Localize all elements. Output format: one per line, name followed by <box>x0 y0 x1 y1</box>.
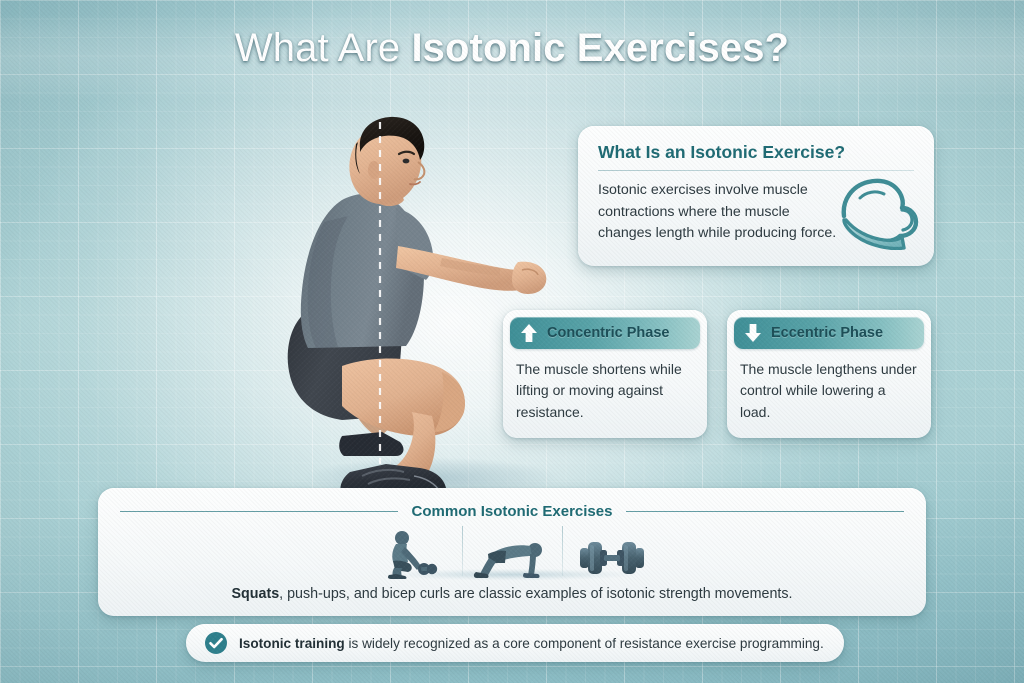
arrow-up-icon <box>520 323 538 343</box>
exercise-icon-cell-pushup <box>462 524 562 580</box>
squat-figure-svg <box>246 104 606 502</box>
exercises-title-row: Common Isotonic Exercises <box>120 503 904 520</box>
definition-card: What Is an Isotonic Exercise? Isotonic e… <box>578 126 934 266</box>
page-title-lead: What Are <box>235 26 412 70</box>
definition-heading: What Is an Isotonic Exercise? <box>598 142 914 163</box>
exercises-icon-row <box>362 524 662 580</box>
concentric-header: Concentric Phase <box>510 317 700 349</box>
concentric-body: The muscle shortens while lifting or mov… <box>516 359 694 423</box>
check-circle-icon <box>204 631 228 655</box>
eye <box>403 159 410 164</box>
flexed-bicep-icon <box>832 164 924 250</box>
common-exercises-panel: Common Isotonic Exercises <box>98 488 926 616</box>
squat-illustration <box>246 104 606 502</box>
footer-text-rest: is widely recognized as a core component… <box>345 636 824 651</box>
exercises-title: Common Isotonic Exercises <box>398 503 627 520</box>
concentric-phase-card: Concentric Phase The muscle shortens whi… <box>503 310 707 438</box>
exercises-caption-rest: , push-ups, and bicep curls are classic … <box>279 586 792 602</box>
far-shoe <box>339 432 403 456</box>
page-title: What Are Isotonic Exercises? <box>0 26 1024 71</box>
exercises-rule-right <box>626 511 904 512</box>
exercise-icon-cell-squat <box>362 524 462 580</box>
footer-text-bold: Isotonic training <box>239 636 345 651</box>
eccentric-phase-card: Eccentric Phase The muscle lengthens und… <box>727 310 931 438</box>
eccentric-body: The muscle lengthens under control while… <box>740 359 918 423</box>
definition-body: Isotonic exercises involve muscle contra… <box>598 180 838 245</box>
exercises-caption-bold: Squats <box>231 586 279 602</box>
page-title-emphasis: Isotonic Exercises? <box>411 26 789 70</box>
dumbbell-icon <box>576 536 648 580</box>
pushup-figure-icon <box>472 532 552 580</box>
exercises-rule-left <box>120 511 398 512</box>
exercises-caption: Squats, push-ups, and bicep curls are cl… <box>98 586 926 602</box>
exercise-icon-cell-dumbbell <box>562 524 662 580</box>
eccentric-title: Eccentric Phase <box>771 325 883 341</box>
bicep-fist <box>902 210 912 230</box>
footer-text: Isotonic training is widely recognized a… <box>239 636 824 651</box>
concentric-title: Concentric Phase <box>547 325 670 341</box>
bicep-shade <box>844 220 904 249</box>
fist <box>512 262 546 294</box>
squat-figure-icon <box>380 528 444 580</box>
arrow-down-icon <box>744 323 762 343</box>
footer-note-pill: Isotonic training is widely recognized a… <box>186 624 844 662</box>
infographic-canvas: What Are Isotonic Exercises? <box>0 0 1024 683</box>
ear <box>368 161 380 179</box>
bicep-crease <box>860 192 884 198</box>
eccentric-header: Eccentric Phase <box>734 317 924 349</box>
